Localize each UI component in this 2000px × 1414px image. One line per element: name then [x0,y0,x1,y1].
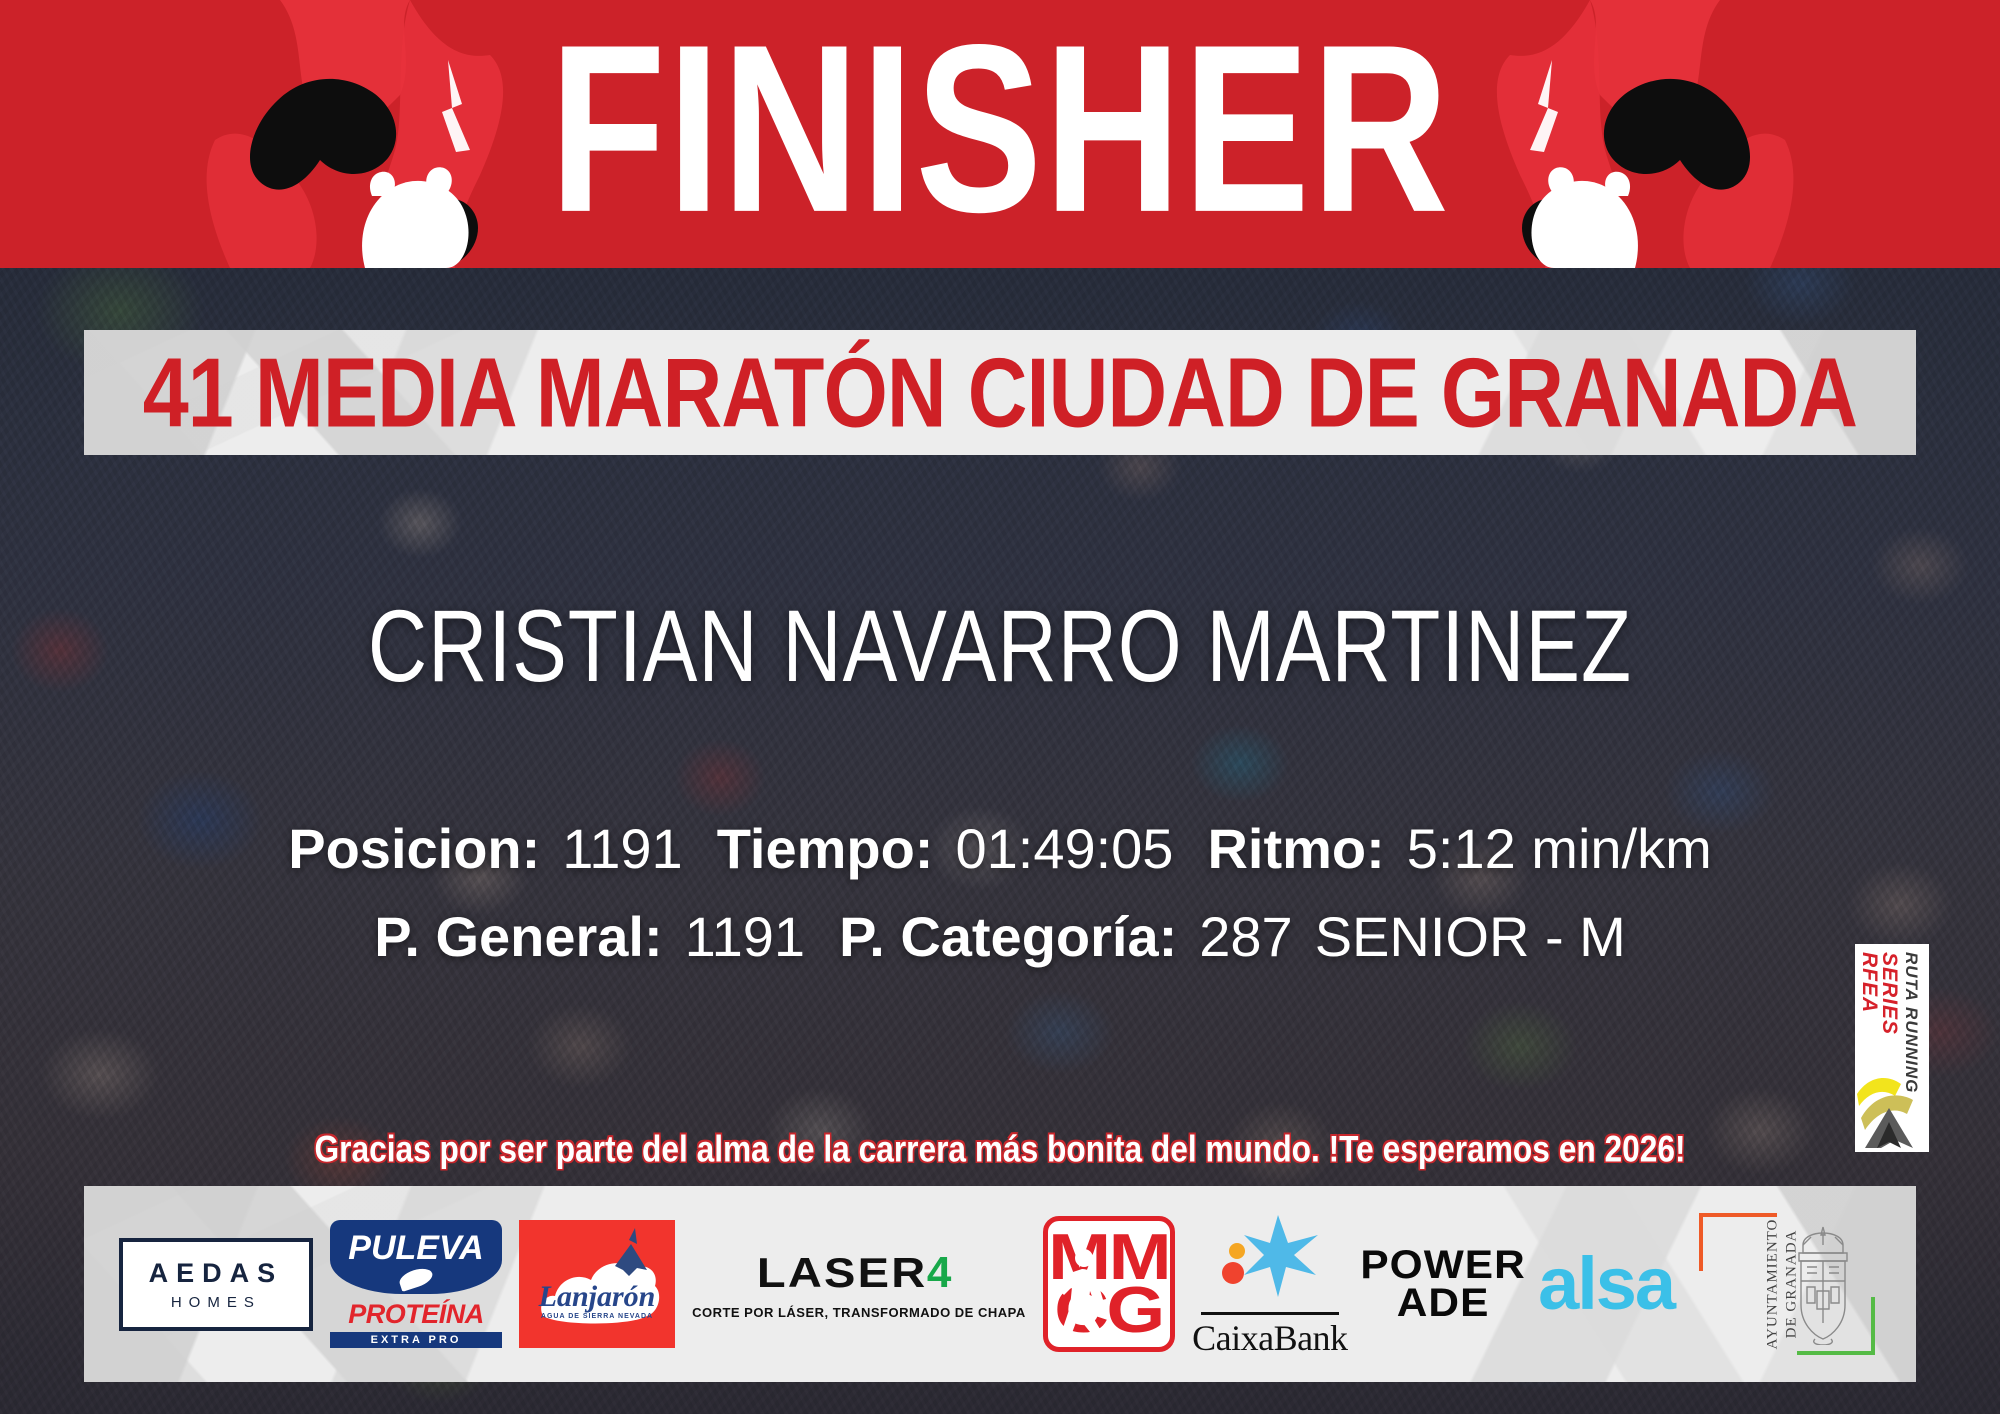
finisher-certificate: FINISHER 41 MEDIA MARATÓN CIUDAD DE GRAN… [0,0,2000,1414]
ayuntamiento-line-1: AYUNTAMIENTO [1765,1219,1781,1350]
svg-text:AGUA DE SIERRA NEVADA: AGUA DE SIERRA NEVADA [541,1313,653,1320]
puleva-wordmark: PULEVA [348,1229,483,1267]
sponsor-bar: AEDAS HOMES PULEVA PROTEÍNA EXTRA PRO [84,1186,1916,1382]
puleva-proteina-label: PROTEÍNA [330,1299,501,1330]
pace-label: Ritmo: [1207,817,1384,880]
sponsor-powerade: POWER ADE [1365,1246,1521,1323]
event-title-band: 41 MEDIA MARATÓN CIUDAD DE GRANADA [84,330,1916,455]
pace-value: 5:12 min/km [1407,817,1712,880]
general-position-label: P. General: [374,905,662,968]
sponsor-alsa: alsa [1538,1251,1674,1318]
caixabank-rule [1201,1312,1339,1315]
sponsor-mmcg: MM CG [1043,1216,1175,1352]
event-title: 41 MEDIA MARATÓN CIUDAD DE GRANADA [143,342,1857,443]
sponsor-aedas-homes: AEDAS HOMES [119,1238,314,1331]
aedas-name: AEDAS [149,1258,284,1289]
category-position-label: P. Categoría: [839,905,1177,968]
milk-drop-icon [397,1265,435,1292]
powerade-line-2: ADE [1360,1284,1525,1322]
sponsor-laser4: LASER 4 CORTE POR LÁSER, TRANSFORMADO DE… [692,1248,1026,1320]
position-value: 1191 [562,817,682,880]
ayuntamiento-logo: AYUNTAMIENTO DE GRANADA [1691,1209,1881,1359]
sponsor-puleva: PULEVA PROTEÍNA EXTRA PRO [330,1220,501,1348]
puleva-logo: PULEVA PROTEÍNA EXTRA PRO [330,1220,501,1348]
laser-four-accent: 4 [927,1248,951,1298]
lanjaron-mountain-icon: Lanjarón AGUA DE SIERRA NEVADA [519,1220,675,1348]
laser4-wordmark: LASER 4 [692,1248,1026,1298]
rfea-series-badge: RFEA SERIES RUTA RUNNING [1855,944,1929,1152]
granada-coat-of-arms-icon [1781,1223,1865,1345]
caixabank-logo: CaixaBank [1192,1209,1347,1359]
position-label: Posicion: [288,817,540,880]
results-row-secondary: P. General:1191P. Categoría:287SENIOR - … [0,906,2000,968]
finisher-title: FINISHER [180,8,1820,251]
powerade-logo: POWER ADE [1365,1246,1521,1323]
sponsor-lanjaron: Lanjarón AGUA DE SIERRA NEVADA [519,1220,675,1348]
lanjaron-logo: Lanjarón AGUA DE SIERRA NEVADA [519,1220,675,1348]
puleva-name: PULEVA [330,1220,501,1294]
runner-name: CRISTIAN NAVARRO MARTINEZ [0,593,2000,701]
general-position-value: 1191 [685,905,805,968]
sponsor-caixabank: CaixaBank [1192,1209,1347,1359]
runner-silhouette-icon [1048,1221,1175,1352]
caixabank-name: CaixaBank [1192,1317,1347,1359]
sponsor-ayuntamiento-de-granada: AYUNTAMIENTO DE GRANADA [1691,1209,1881,1359]
powerade-line-1: POWER [1360,1246,1525,1284]
mmcg-logo: MM CG [1043,1216,1175,1352]
time-value: 01:49:05 [955,817,1173,880]
laser4-logo: LASER 4 CORTE POR LÁSER, TRANSFORMADO DE… [692,1248,1026,1320]
alsa-logo: alsa [1538,1251,1674,1318]
header-banner: FINISHER [0,0,2000,268]
puleva-extra-pro-label: EXTRA PRO [330,1332,501,1348]
laser-name: LASER [757,1249,928,1297]
results-row-primary: Posicion:1191Tiempo:01:49:05Ritmo:5:12 m… [0,818,2000,880]
time-label: Tiempo: [717,817,934,880]
thank-you-message: Gracias por ser parte del alma de la car… [40,1127,1960,1172]
laser4-tagline: CORTE POR LÁSER, TRANSFORMADO DE CHAPA [692,1305,1026,1320]
category-name-value: SENIOR - M [1315,905,1626,968]
category-position-value: 287 [1199,905,1292,968]
aedas-logo: AEDAS HOMES [119,1238,314,1331]
rfea-series-label: SERIES [1877,952,1901,1035]
svg-text:Lanjarón: Lanjarón [538,1280,656,1313]
aedas-subtitle: HOMES [149,1294,284,1311]
caixabank-star-icon [1200,1209,1340,1303]
